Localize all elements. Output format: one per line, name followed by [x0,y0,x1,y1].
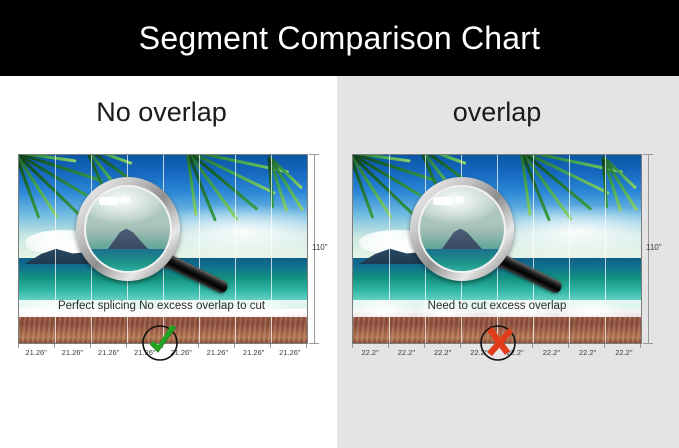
panel-heading-overlap: overlap [337,97,679,128]
segment-seam [533,155,534,343]
segment-seam [271,155,272,343]
segment-seam [389,155,390,343]
page-title: Segment Comparison Chart [139,20,540,57]
magnifying-glass-icon [410,177,514,281]
verdict-no-overlap [0,320,337,364]
segment-seam [199,155,200,343]
caption-no-overlap: Perfect splicing No excess overlap to cu… [0,300,337,312]
segment-seam [55,155,56,343]
cross-mark-icon [476,320,520,364]
panel-overlap: overlap [337,76,679,448]
check-mark-icon [140,320,184,364]
magnifying-glass-icon [76,177,180,281]
height-dimension-label-left: 110" [312,243,328,252]
segment-seam [569,155,570,343]
verdict-overlap [337,320,679,364]
mural-no-overlap [18,154,308,344]
panel-heading-no-overlap: No overlap [0,97,337,128]
mural-overlap [352,154,642,344]
mural-image [352,154,642,344]
caption-overlap: Need to cut excess overlap [337,300,679,312]
height-dimension-label-right: 110" [646,243,662,252]
mural-image [18,154,308,344]
segment-seam [605,155,606,343]
panel-no-overlap: No overlap [0,76,337,448]
title-banner: Segment Comparison Chart [0,0,679,76]
segment-seam [235,155,236,343]
